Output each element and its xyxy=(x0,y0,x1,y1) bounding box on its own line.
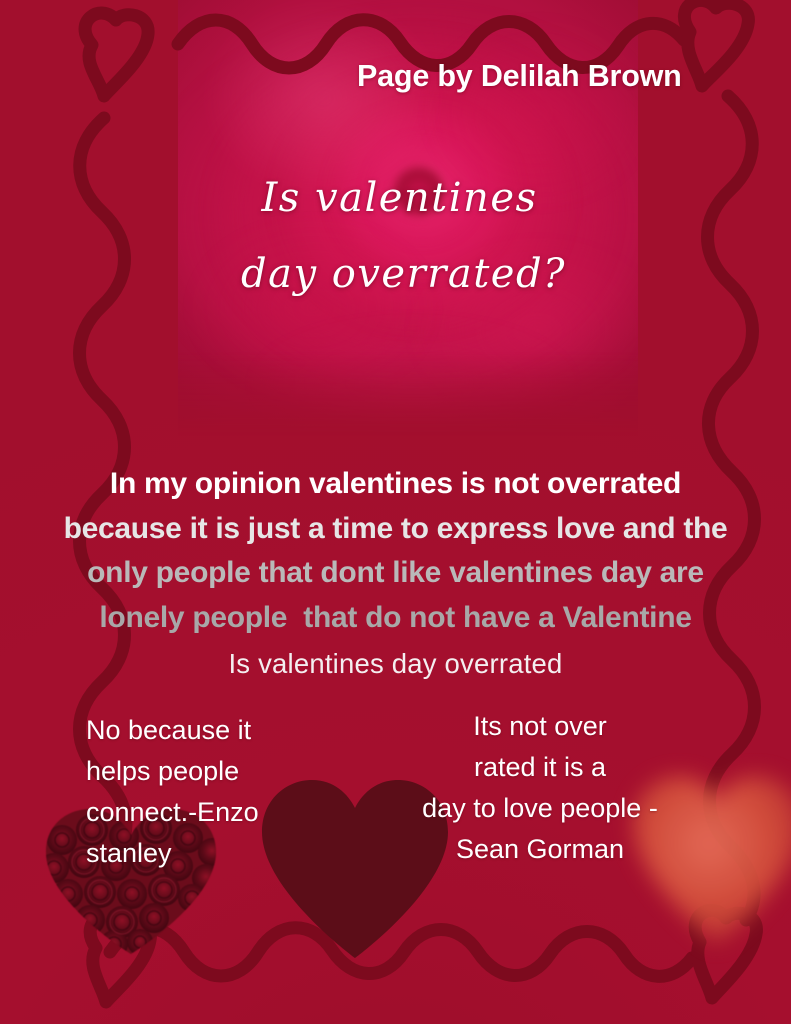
quote-line: No because it xyxy=(86,710,336,751)
quote-line: connect.-Enzo xyxy=(86,792,336,833)
statement-line-3: only people that dont like valentines da… xyxy=(8,551,783,596)
valentines-poster: Page by Delilah Brown Is valentines day … xyxy=(0,0,791,1024)
quote-sean-gorman: Its not over rated it is a day to love p… xyxy=(400,706,680,870)
subheading: Is valentines day overrated xyxy=(0,648,791,680)
opinion-statement: In my opinion valentines is not overrate… xyxy=(8,462,783,641)
statement-line-1: In my opinion valentines is not overrate… xyxy=(8,462,783,507)
statement-line-2: because it is just a time to express lov… xyxy=(8,507,783,552)
quote-line: rated it is a xyxy=(400,747,680,788)
quote-line: helps people xyxy=(86,751,336,792)
script-title: Is valentines day overrated? xyxy=(0,160,791,312)
quote-line: stanley xyxy=(86,833,336,874)
quote-line: Its not over xyxy=(400,706,680,747)
page-byline: Page by Delilah Brown xyxy=(357,59,682,94)
script-title-line-2: day overrated? xyxy=(0,236,791,312)
statement-line-4: lonely people that do not have a Valenti… xyxy=(8,596,783,641)
script-title-line-1: Is valentines xyxy=(0,160,791,236)
quote-line: day to love people - xyxy=(400,788,680,829)
quote-line: Sean Gorman xyxy=(400,829,680,870)
quote-enzo-stanley: No because it helps people connect.-Enzo… xyxy=(86,710,336,874)
